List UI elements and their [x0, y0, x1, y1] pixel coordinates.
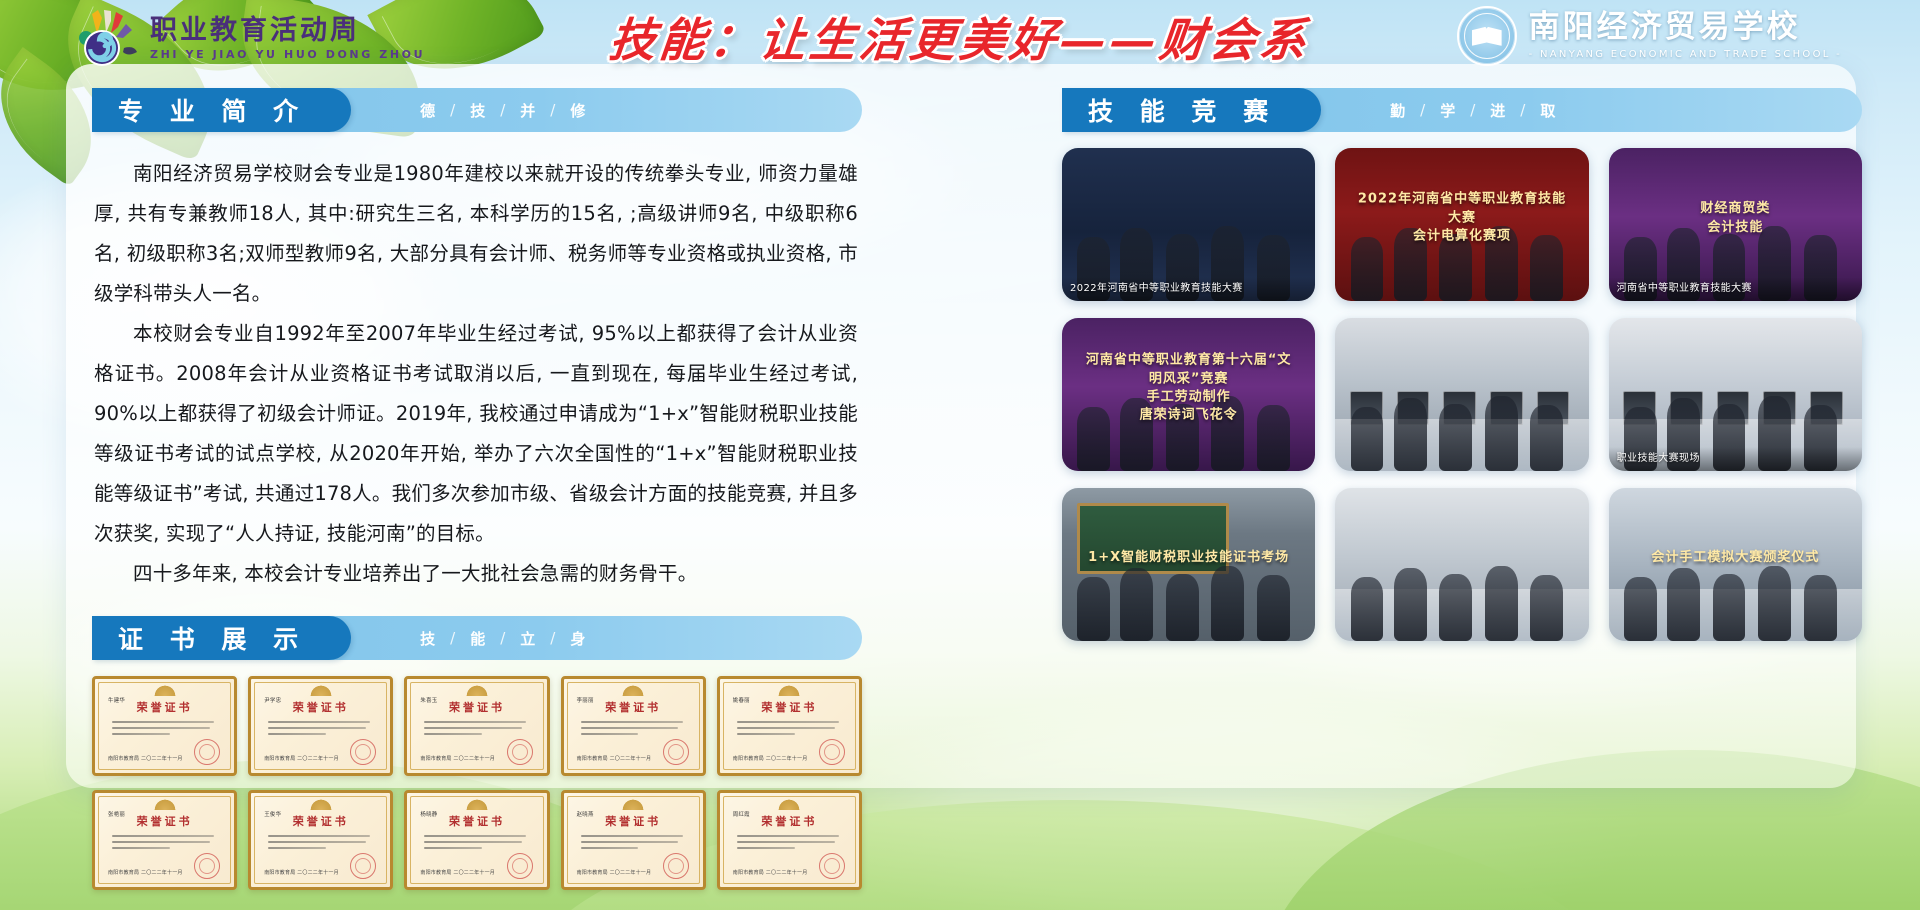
certificate-card[interactable]: 杨晓静荣誉证书南阳市教育局 二〇二二年十一月	[404, 790, 549, 890]
certificate-body-lines	[416, 835, 537, 849]
competition-photo[interactable]	[1335, 318, 1588, 471]
section-header-certificates: 证 书 展 示 技 / 能 / 立 / 身	[92, 616, 862, 660]
certificate-card[interactable]: 张艳丽荣誉证书南阳市教育局 二〇二二年十一月	[92, 790, 237, 890]
photo-caption: 职业技能大赛现场	[1609, 447, 1862, 472]
certificate-body-lines	[416, 721, 537, 735]
certificate-stamp-icon	[194, 739, 220, 765]
certificate-card[interactable]: 朱喜玉荣誉证书南阳市教育局 二〇二二年十一月	[404, 676, 549, 776]
certificate-stamp-icon	[507, 853, 533, 879]
motto-char: 进	[1490, 100, 1507, 121]
left-column: 专 业 简 介 德 / 技 / 并 / 修 南阳经济贸易学校财会专业是1980年…	[92, 88, 862, 890]
certificate-stamp-icon	[663, 739, 689, 765]
certificate-emblem-icon	[310, 683, 332, 696]
certificate-emblem-icon	[154, 683, 176, 696]
certificate-stamp-icon	[663, 853, 689, 879]
motto-char: 身	[570, 628, 587, 649]
school-logo: 南阳经济贸易学校 - NANYANG ECONOMIC AND TRADE SC…	[1457, 6, 1842, 66]
competition-photo[interactable]: 财经商贸类会计技能河南省中等职业教育技能大赛	[1609, 148, 1862, 301]
certificate-issuer: 南阳市教育局 二〇二二年十一月	[733, 755, 808, 762]
certificate-body-lines	[260, 835, 381, 849]
certificate-body-lines	[104, 721, 225, 735]
certificate-card[interactable]: 王俊华荣誉证书南阳市教育局 二〇二二年十一月	[248, 790, 393, 890]
intro-body-text: 南阳经济贸易学校财会专业是1980年建校以来就开设的传统拳头专业, 师资力量雄厚…	[92, 148, 862, 594]
certificate-stamp-icon	[819, 853, 845, 879]
motto-char: 修	[570, 100, 587, 121]
motto-char: 技	[420, 628, 437, 649]
certificate-card[interactable]: 牛建华荣誉证书南阳市教育局 二〇二二年十一月	[92, 676, 237, 776]
school-name-cn: 南阳经济贸易学校	[1529, 12, 1842, 43]
motto-separator: /	[450, 629, 457, 647]
intro-paragraph: 本校财会专业自1992年至2007年毕业生经过考试, 95%以上都获得了会计从业…	[94, 314, 858, 554]
poster-header: 职业教育活动周 ZHI YE JIAO YU HUO DONG ZHOU 技能：…	[0, 0, 1920, 86]
certificate-issuer: 南阳市教育局 二〇二二年十一月	[577, 869, 652, 876]
certificate-issuer: 南阳市教育局 二〇二二年十一月	[420, 869, 495, 876]
section-header-plate: 证 书 展 示	[92, 616, 351, 660]
certificate-issuer: 南阳市教育局 二〇二二年十一月	[733, 869, 808, 876]
certificate-card[interactable]: 姚春丽荣誉证书南阳市教育局 二〇二二年十一月	[717, 676, 862, 776]
certificate-body-lines	[260, 721, 381, 735]
motto-char: 立	[520, 628, 537, 649]
competition-photo[interactable]: 2022年河南省中等职业教育技能大赛	[1062, 148, 1315, 301]
people-silhouettes	[1335, 382, 1588, 471]
certificate-recipient: 朱喜玉	[420, 696, 437, 704]
certificate-emblem-icon	[778, 683, 800, 696]
motto-separator: /	[1470, 101, 1477, 119]
section-motto-competition: 勤 / 学 / 进 / 取	[1377, 88, 1570, 132]
photo-caption: 河南省中等职业教育技能大赛	[1609, 277, 1862, 302]
right-column: 技 能 竞 赛 勤 / 学 / 进 / 取 2022年河南省中等职业教育技能大赛…	[1062, 88, 1862, 811]
section-title-certificates: 证 书 展 示	[118, 620, 307, 656]
motto-char: 并	[520, 100, 537, 121]
certificate-recipient: 杨晓静	[420, 810, 437, 818]
motto-char: 技	[470, 100, 487, 121]
poster-canvas: 职业教育活动周 ZHI YE JIAO YU HUO DONG ZHOU 技能：…	[0, 0, 1920, 910]
photo-banner-text: 会计手工模拟大赛颁奖仪式	[1626, 549, 1844, 567]
photo-banner-text: 河南省中等职业教育第十六届“文明风采”竞赛手工劳动制作唐荣诗词飞花令	[1080, 352, 1298, 425]
certificate-grid: 牛建华荣誉证书南阳市教育局 二〇二二年十一月尹学忠荣誉证书南阳市教育局 二〇二二…	[92, 676, 862, 890]
motto-char: 能	[470, 628, 487, 649]
competition-photo[interactable]	[1335, 488, 1588, 641]
motto-separator: /	[1520, 101, 1527, 119]
certificate-card[interactable]: 李丽丽荣誉证书南阳市教育局 二〇二二年十一月	[561, 676, 706, 776]
certificate-issuer: 南阳市教育局 二〇二二年十一月	[577, 755, 652, 762]
motto-separator: /	[450, 101, 457, 119]
competition-photo[interactable]: 2022年河南省中等职业教育技能大赛会计电算化赛项	[1335, 148, 1588, 301]
certificate-body-lines	[573, 721, 694, 735]
motto-separator: /	[550, 629, 557, 647]
school-name-en: - NANYANG ECONOMIC AND TRADE SCHOOL -	[1529, 49, 1842, 60]
certificate-issuer: 南阳市教育局 二〇二二年十一月	[108, 869, 183, 876]
intro-paragraph: 南阳经济贸易学校财会专业是1980年建校以来就开设的传统拳头专业, 师资力量雄厚…	[94, 154, 858, 314]
certificate-body-lines	[729, 835, 850, 849]
section-header-plate: 技 能 竞 赛	[1062, 88, 1321, 132]
section-header-competition: 技 能 竞 赛 勤 / 学 / 进 / 取	[1062, 88, 1862, 132]
certificate-recipient: 张艳丽	[108, 810, 125, 818]
certificate-body-lines	[729, 721, 850, 735]
certificate-emblem-icon	[466, 683, 488, 696]
certificate-emblem-icon	[310, 797, 332, 810]
motto-char: 取	[1540, 100, 1557, 121]
section-header-plate: 专 业 简 介	[92, 88, 351, 132]
certificate-issuer: 南阳市教育局 二〇二二年十一月	[264, 869, 339, 876]
certificate-issuer: 南阳市教育局 二〇二二年十一月	[264, 755, 339, 762]
certificate-body-lines	[104, 835, 225, 849]
competition-photo[interactable]: 会计手工模拟大赛颁奖仪式	[1609, 488, 1862, 641]
certificate-card[interactable]: 尹学忠荣誉证书南阳市教育局 二〇二二年十一月	[248, 676, 393, 776]
certificate-recipient: 王俊华	[264, 810, 281, 818]
certificate-recipient: 李丽丽	[577, 696, 594, 704]
motto-char: 学	[1440, 100, 1457, 121]
certificate-issuer: 南阳市教育局 二〇二二年十一月	[108, 755, 183, 762]
certificate-recipient: 周红霞	[733, 810, 750, 818]
motto-separator: /	[500, 101, 507, 119]
section-motto-certificates: 技 / 能 / 立 / 身	[407, 616, 600, 660]
certificate-recipient: 赵晓燕	[577, 810, 594, 818]
certificate-card[interactable]: 赵晓燕荣誉证书南阳市教育局 二〇二二年十一月	[561, 790, 706, 890]
motto-char: 勤	[1390, 100, 1407, 121]
competition-photo[interactable]: 1+X智能财税职业技能证书考场	[1062, 488, 1315, 641]
certificate-recipient: 姚春丽	[733, 696, 750, 704]
certificate-stamp-icon	[194, 853, 220, 879]
section-motto-intro: 德 / 技 / 并 / 修	[407, 88, 600, 132]
certificate-emblem-icon	[622, 683, 644, 696]
motto-separator: /	[500, 629, 507, 647]
intro-paragraph: 四十多年来, 本校会计专业培养出了一大批社会急需的财务骨干。	[94, 554, 858, 594]
people-silhouettes	[1335, 552, 1588, 641]
certificate-emblem-icon	[622, 797, 644, 810]
photo-banner-text: 1+X智能财税职业技能证书考场	[1080, 549, 1298, 567]
competition-photo[interactable]: 职业技能大赛现场	[1609, 318, 1862, 471]
certificate-issuer: 南阳市教育局 二〇二二年十一月	[420, 755, 495, 762]
competition-photo-grid: 2022年河南省中等职业教育技能大赛2022年河南省中等职业教育技能大赛会计电算…	[1062, 148, 1862, 811]
certificate-stamp-icon	[819, 739, 845, 765]
motto-separator: /	[550, 101, 557, 119]
certificate-recipient: 尹学忠	[264, 696, 281, 704]
certificate-body-lines	[573, 835, 694, 849]
photo-banner-text: 财经商贸类会计技能	[1626, 200, 1844, 236]
section-header-intro: 专 业 简 介 德 / 技 / 并 / 修	[92, 88, 862, 132]
competition-photo[interactable]: 河南省中等职业教育第十六届“文明风采”竞赛手工劳动制作唐荣诗词飞花令	[1062, 318, 1315, 471]
certificate-stamp-icon	[350, 739, 376, 765]
photo-banner-text: 2022年河南省中等职业教育技能大赛会计电算化赛项	[1353, 191, 1571, 246]
book-icon	[1472, 27, 1502, 46]
section-title-intro: 专 业 简 介	[118, 92, 307, 128]
certificate-emblem-icon	[778, 797, 800, 810]
motto-separator: /	[1420, 101, 1427, 119]
section-title-competition: 技 能 竞 赛	[1088, 92, 1277, 128]
certificate-stamp-icon	[350, 853, 376, 879]
school-seal-icon	[1457, 6, 1517, 66]
motto-char: 德	[420, 100, 437, 121]
certificate-emblem-icon	[154, 797, 176, 810]
certificate-stamp-icon	[507, 739, 533, 765]
certificate-recipient: 牛建华	[108, 696, 125, 704]
certificate-card[interactable]: 周红霞荣誉证书南阳市教育局 二〇二二年十一月	[717, 790, 862, 890]
photo-caption: 2022年河南省中等职业教育技能大赛	[1062, 277, 1315, 302]
certificate-emblem-icon	[466, 797, 488, 810]
